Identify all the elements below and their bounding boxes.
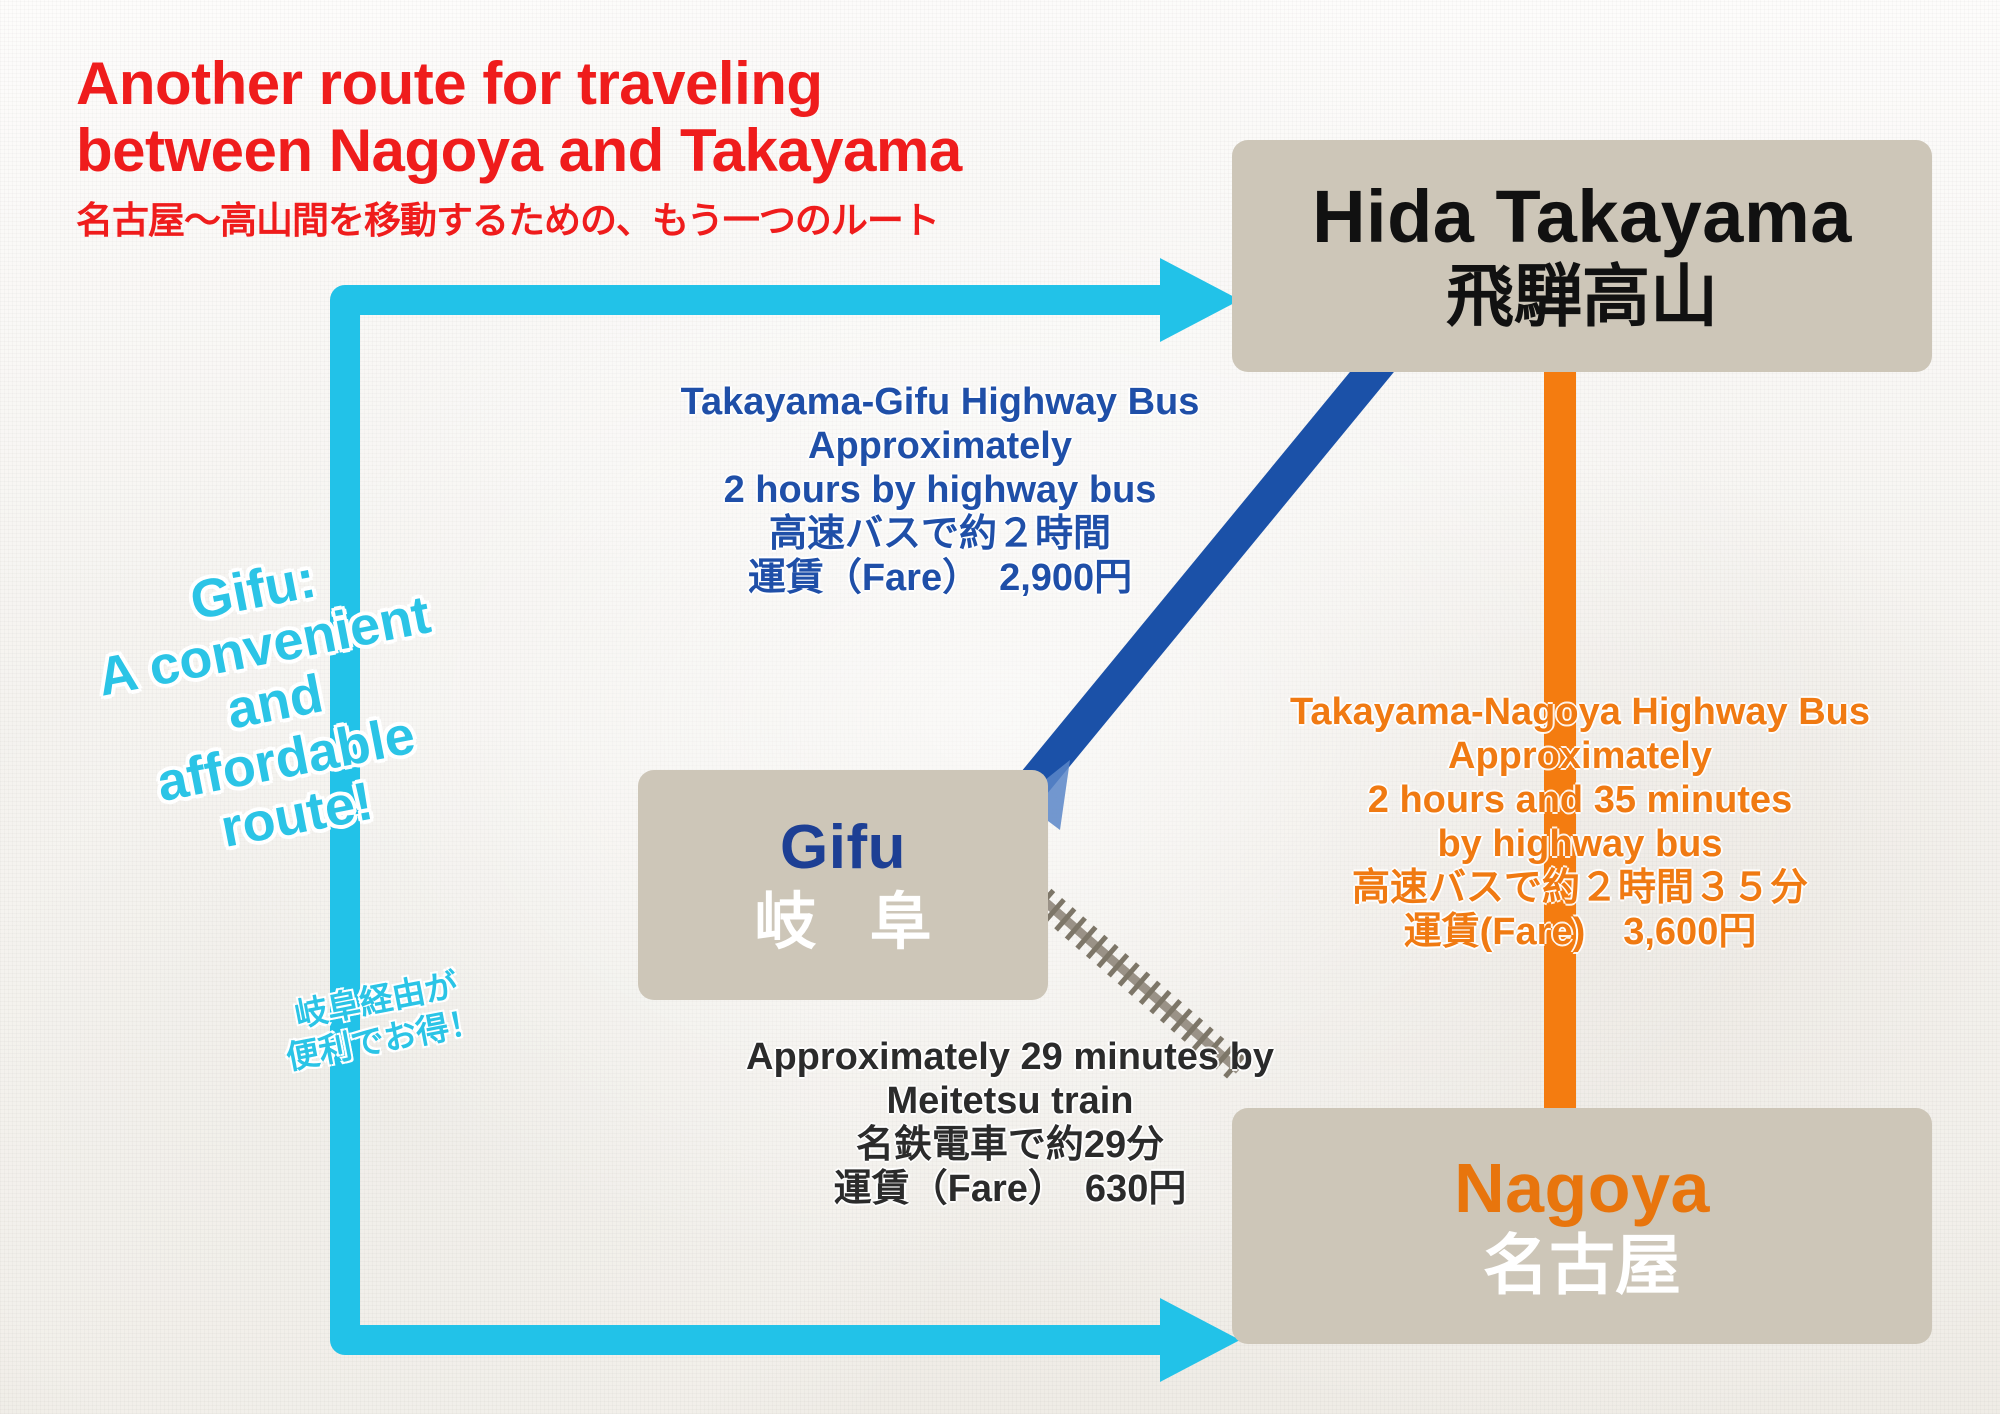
station-gifu[interactable]: Gifu 岐 阜 (638, 770, 1048, 1000)
infographic-canvas: Another route for traveling between Nago… (0, 0, 2000, 1414)
title-japanese: 名古屋〜高山間を移動するための、もう一つのルート (76, 190, 1236, 244)
station-gifu-jp: 岐 阜 (736, 890, 949, 955)
station-hida-takayama-jp: 飛騨高山 (1446, 262, 1718, 333)
route-gifu-nagoya-duration-en: Approximately 29 minutes by Meitetsu tra… (640, 1035, 1380, 1123)
station-gifu-en: Gifu (780, 815, 906, 880)
title-line-1: Another route for traveling (76, 50, 1236, 117)
route-takayama-nagoya-duration-jp: 高速バスで約２時間３５分 (1180, 866, 1980, 910)
route-label-takayama-nagoya: Takayama-Nagoya Highway Bus Approximatel… (1180, 690, 1980, 954)
title-line-2: between Nagoya and Takayama (76, 117, 1236, 184)
route-label-takayama-gifu: Takayama-Gifu Highway Bus Approximately … (560, 380, 1320, 600)
route-takayama-gifu-name: Takayama-Gifu Highway Bus (560, 380, 1320, 424)
route-label-gifu-nagoya: Approximately 29 minutes by Meitetsu tra… (640, 1035, 1380, 1211)
route-takayama-nagoya-duration-en: Approximately 2 hours and 35 minutes by … (1180, 734, 1980, 866)
route-gifu-nagoya-fare: 運賃（Fare） 630円 (640, 1167, 1380, 1211)
route-takayama-nagoya-name: Takayama-Nagoya Highway Bus (1180, 690, 1980, 734)
page-title: Another route for traveling between Nago… (76, 50, 1236, 244)
route-takayama-nagoya-fare: 運賃(Fare) 3,600円 (1180, 910, 1980, 954)
route-takayama-gifu-duration-en: Approximately 2 hours by highway bus (560, 424, 1320, 512)
station-hida-takayama-en: Hida Takayama (1312, 178, 1852, 256)
route-takayama-gifu-fare: 運賃（Fare） 2,900円 (560, 556, 1320, 600)
station-hida-takayama[interactable]: Hida Takayama 飛騨高山 (1232, 140, 1932, 372)
route-gifu-nagoya-duration-jp: 名鉄電車で約29分 (640, 1123, 1380, 1167)
station-nagoya-en: Nagoya (1454, 1152, 1710, 1226)
route-takayama-gifu-duration-jp: 高速バスで約２時間 (560, 512, 1320, 556)
station-nagoya-jp: 名古屋 (1483, 1231, 1681, 1300)
